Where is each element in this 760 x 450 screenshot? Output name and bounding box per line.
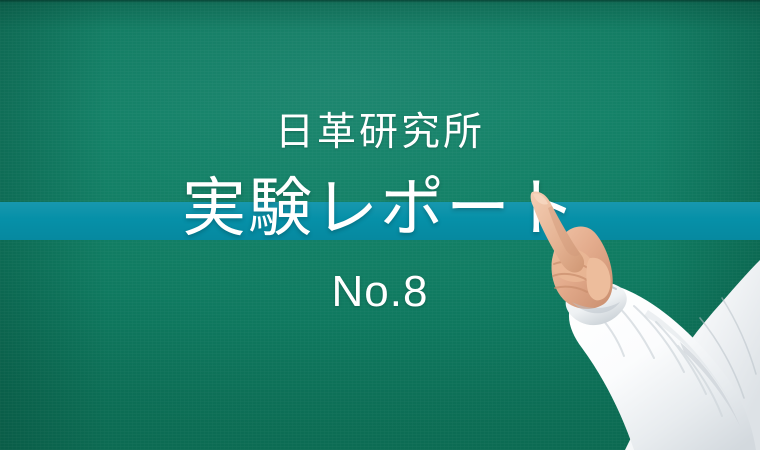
- report-title-card: 日革研究所 実験レポート No.8: [0, 0, 760, 450]
- page-title: 実験レポート: [0, 176, 760, 240]
- organization-name: 日革研究所: [0, 113, 760, 152]
- issue-number: No.8: [0, 270, 760, 314]
- top-edge-line: [0, 0, 760, 3]
